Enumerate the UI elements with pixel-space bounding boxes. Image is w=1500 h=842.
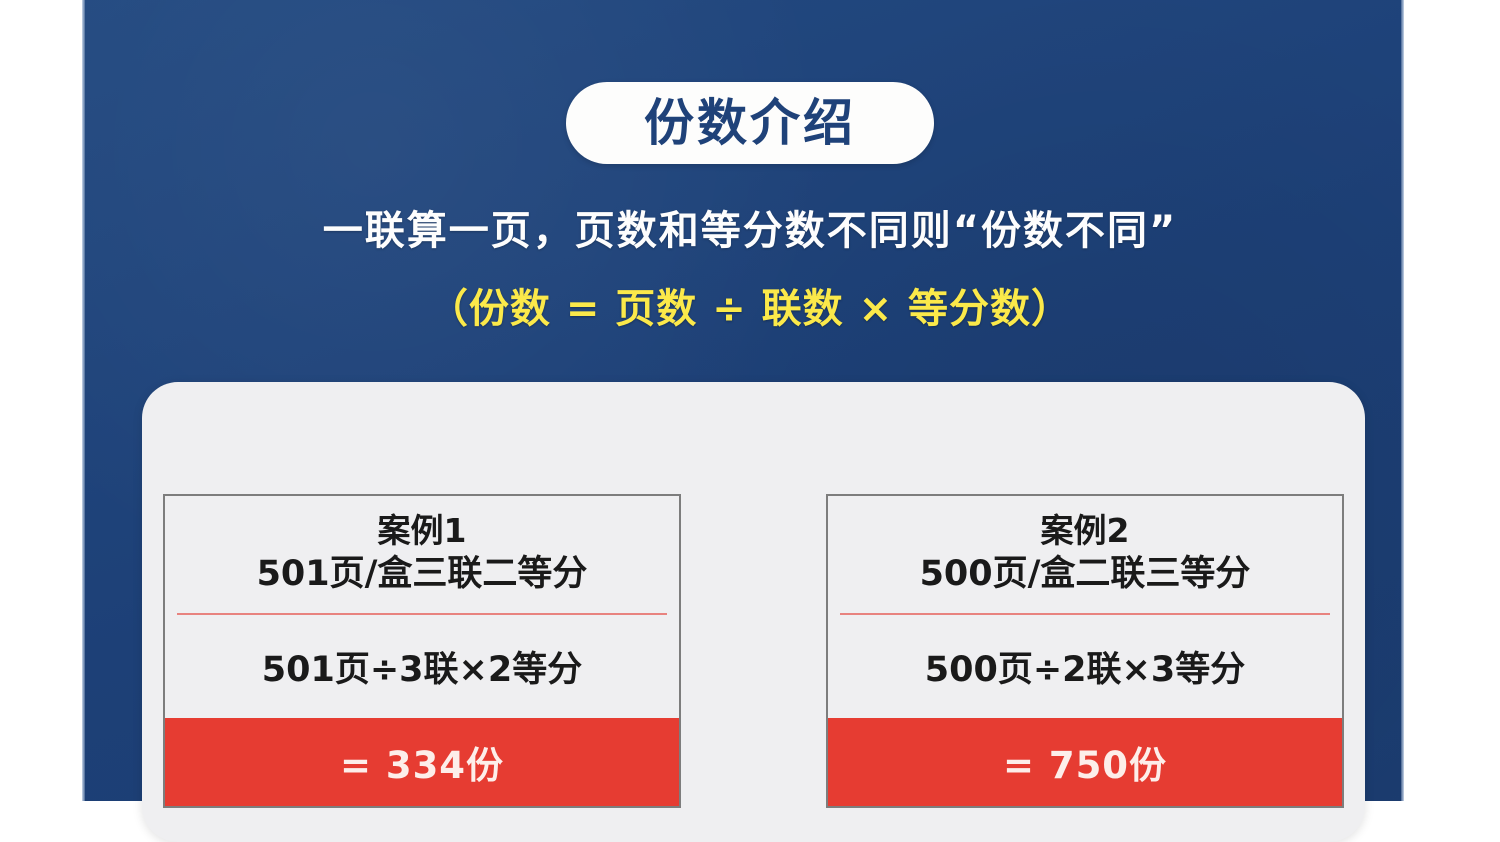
case-1-calculation: 501页÷3联×2等分 xyxy=(165,615,679,718)
case-1-spec: 501页/盒三联二等分 xyxy=(175,551,669,598)
promo-page: 份数介绍 一联算一页，页数和等分数不同则“份数不同” （份数 = 页数 ÷ 联数… xyxy=(0,0,1500,801)
case-2-result: = 750份 xyxy=(1003,735,1167,789)
formula-text: （份数 = 页数 ÷ 联数 × 等分数） xyxy=(0,276,1500,334)
case-1-result: = 334份 xyxy=(340,735,504,789)
panel-edge-left xyxy=(82,0,85,801)
case-2-calculation: 500页÷2联×3等分 xyxy=(828,615,1342,718)
case-1-title: 案例1 xyxy=(175,510,669,551)
case-2-spec: 500页/盒二联三等分 xyxy=(838,551,1332,598)
case-1-header: 案例1 501页/盒三联二等分 xyxy=(165,496,679,609)
case-1-result-band: = 334份 xyxy=(165,718,679,806)
case-2-result-band: = 750份 xyxy=(828,718,1342,806)
case-2-header: 案例2 500页/盒二联三等分 xyxy=(828,496,1342,609)
cases-card: 案例1 501页/盒三联二等分 501页÷3联×2等分 = 334份 案例2 5… xyxy=(142,382,1365,842)
page-title: 份数介绍 xyxy=(644,98,856,148)
case-box-1: 案例1 501页/盒三联二等分 501页÷3联×2等分 = 334份 xyxy=(163,494,681,808)
case-2-title: 案例2 xyxy=(838,510,1332,551)
case-box-2: 案例2 500页/盒二联三等分 500页÷2联×3等分 = 750份 xyxy=(826,494,1344,808)
title-pill: 份数介绍 xyxy=(566,82,934,164)
cases-row: 案例1 501页/盒三联二等分 501页÷3联×2等分 = 334份 案例2 5… xyxy=(163,494,1344,808)
subtitle-text: 一联算一页，页数和等分数不同则“份数不同” xyxy=(0,198,1500,256)
panel-edge-right xyxy=(1401,0,1404,801)
